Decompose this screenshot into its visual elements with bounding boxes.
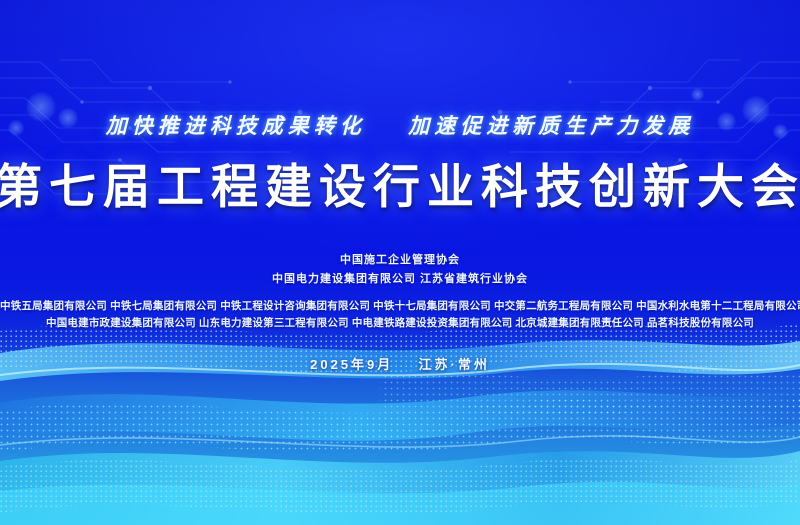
sponsor-block: 中铁五局集团有限公司 中铁七局集团有限公司 中铁工程设计咨询集团有限公司 中铁十… xyxy=(0,298,800,332)
tagline-left: 加快推进科技成果转化 xyxy=(106,114,366,138)
conference-banner: 加快推进科技成果转化 加速促进新质生产力发展 第七届工程建设行业科技创新大会 中… xyxy=(0,0,800,525)
banner-content: 加快推进科技成果转化 加速促进新质生产力发展 第七届工程建设行业科技创新大会 中… xyxy=(0,0,800,525)
organizer-line-primary: 中国施工企业管理协会 xyxy=(272,253,528,269)
event-datetime-location: 2025年9月 江苏·常州 xyxy=(310,354,490,373)
organizer-line-secondary: 中国电力建设集团有限公司 江苏省建筑行业协会 xyxy=(272,272,528,288)
tagline-right: 加速促进新质生产力发展 xyxy=(408,114,694,138)
organizer-block: 中国施工企业管理协会 中国电力建设集团有限公司 江苏省建筑行业协会 xyxy=(272,253,528,288)
main-title: 第七届工程建设行业科技创新大会 xyxy=(0,148,800,217)
event-date: 2025年9月 xyxy=(310,357,393,372)
sponsor-line-2: 中国电建市政建设集团有限公司 山东电力建设第三工程有限公司 中电建铁路建设投资集… xyxy=(0,315,800,332)
event-location: 江苏·常州 xyxy=(419,357,490,372)
sponsor-line-1: 中铁五局集团有限公司 中铁七局集团有限公司 中铁工程设计咨询集团有限公司 中铁十… xyxy=(0,298,800,315)
tagline: 加快推进科技成果转化 加速促进新质生产力发展 xyxy=(106,110,695,140)
